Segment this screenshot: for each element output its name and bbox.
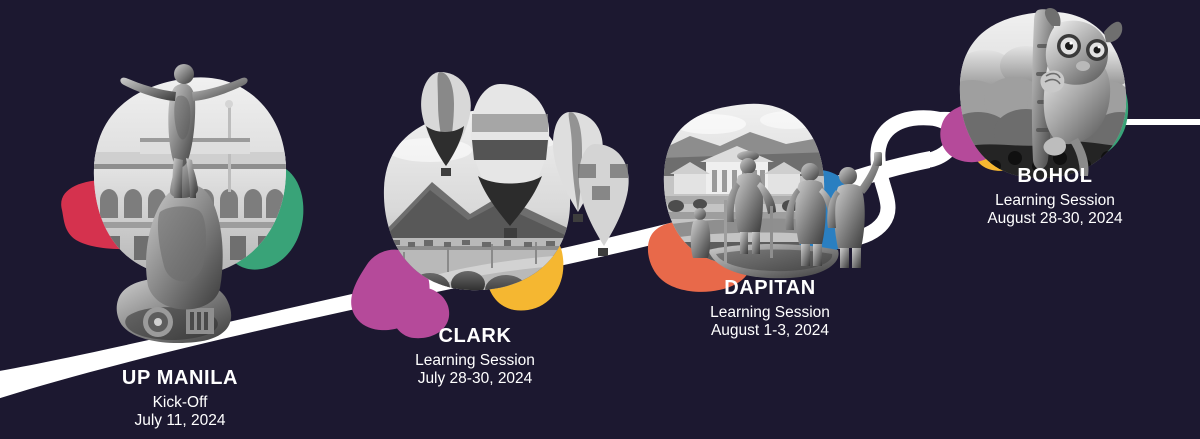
stop-subtitle: Learning Session: [640, 304, 900, 322]
stop-label-up-manila: UP MANILA Kick-Off July 11, 2024: [60, 367, 300, 430]
stop-label-bohol: BOHOL Learning Session August 28-30, 202…: [930, 165, 1180, 228]
stop-subtitle: Kick-Off: [60, 394, 300, 412]
stop-title: UP MANILA: [60, 367, 300, 391]
stop-label-clark: CLARK Learning Session July 28-30, 2024: [345, 325, 605, 388]
collage-bohol: [940, 5, 1148, 188]
stop-title: DAPITAN: [640, 277, 900, 301]
stop-title: BOHOL: [930, 165, 1180, 189]
stop-title: CLARK: [345, 325, 605, 349]
stop-date: August 1-3, 2024: [640, 322, 900, 340]
collage-dapitan: [648, 98, 882, 292]
stop-label-dapitan: DAPITAN Learning Session August 1-3, 202…: [640, 277, 900, 340]
stop-date: August 28-30, 2024: [930, 210, 1180, 228]
stop-date: July 28-30, 2024: [345, 370, 605, 388]
stop-subtitle: Learning Session: [930, 192, 1180, 210]
roadmap-infographic: UP MANILA Kick-Off July 11, 2024 CLARK L…: [0, 0, 1200, 439]
collage-clark: [351, 72, 629, 338]
stop-subtitle: Learning Session: [345, 352, 605, 370]
stop-date: July 11, 2024: [60, 412, 300, 430]
collage-up-manila: [61, 64, 303, 343]
